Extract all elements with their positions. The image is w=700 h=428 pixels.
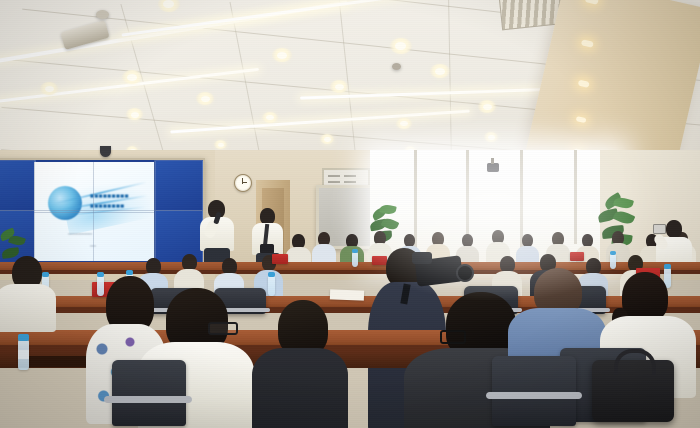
water-bottle xyxy=(610,254,616,269)
chair-armrest xyxy=(486,392,582,399)
bottle-cap xyxy=(610,251,616,255)
handout-paper xyxy=(330,289,364,300)
slide-title-line1: ■■■■■■■■■ xyxy=(90,193,129,200)
eyeglasses-icon xyxy=(440,330,466,344)
office-chair xyxy=(112,360,186,426)
wall-clock xyxy=(234,174,252,192)
attendee-ponytail xyxy=(252,300,348,428)
office-chair xyxy=(492,356,576,426)
bottle-cap xyxy=(268,272,275,277)
water-bottle xyxy=(352,252,358,267)
chair-armrest xyxy=(104,396,192,403)
bottle-label xyxy=(18,350,29,359)
smartphone-icon xyxy=(653,224,666,234)
slide-title-line2: ■■■■■■■■ xyxy=(90,203,125,210)
bottle-cap xyxy=(664,264,671,269)
attendee-torso xyxy=(0,284,56,332)
bag-handle xyxy=(614,349,656,375)
camera-lens-hood xyxy=(412,252,432,264)
video-wall-panel-blue xyxy=(155,160,203,212)
sensor-stem xyxy=(491,158,494,164)
photographer-head xyxy=(666,220,682,238)
clock-minute-hand xyxy=(242,182,247,183)
soffit-downlight xyxy=(576,116,587,123)
red-box xyxy=(570,252,584,261)
image-caption: Conference room presentation with seated… xyxy=(0,0,23,1)
camera-mount xyxy=(103,140,107,148)
camera-lens-icon xyxy=(456,264,474,282)
eyeglasses-icon xyxy=(208,322,238,335)
bottle-cap xyxy=(18,334,29,341)
attendee-head xyxy=(622,272,668,322)
bottle-cap xyxy=(126,270,133,275)
red-box xyxy=(272,254,288,264)
soffit-downlight xyxy=(581,39,594,48)
water-bottle xyxy=(268,276,275,296)
bottle-cap xyxy=(352,249,358,253)
attendee-torso xyxy=(252,348,348,428)
camera-bag xyxy=(592,360,674,422)
smoke-detector-icon xyxy=(96,10,109,19)
soffit-downlight xyxy=(585,0,599,5)
attendee-foreground xyxy=(0,256,58,328)
ceiling-sensor-camera-icon xyxy=(487,163,499,172)
ceiling-sensor xyxy=(392,63,401,70)
soffit-downlight xyxy=(578,80,590,88)
conference-room-photograph: ■■■■■■■■■ ■■■■■■■■ ▪▪▪▪▪▪▪▪▪▪▪▪▪▪▪▪▪▪▪▪ … xyxy=(0,0,700,428)
video-wall-panel-blue xyxy=(0,160,36,212)
